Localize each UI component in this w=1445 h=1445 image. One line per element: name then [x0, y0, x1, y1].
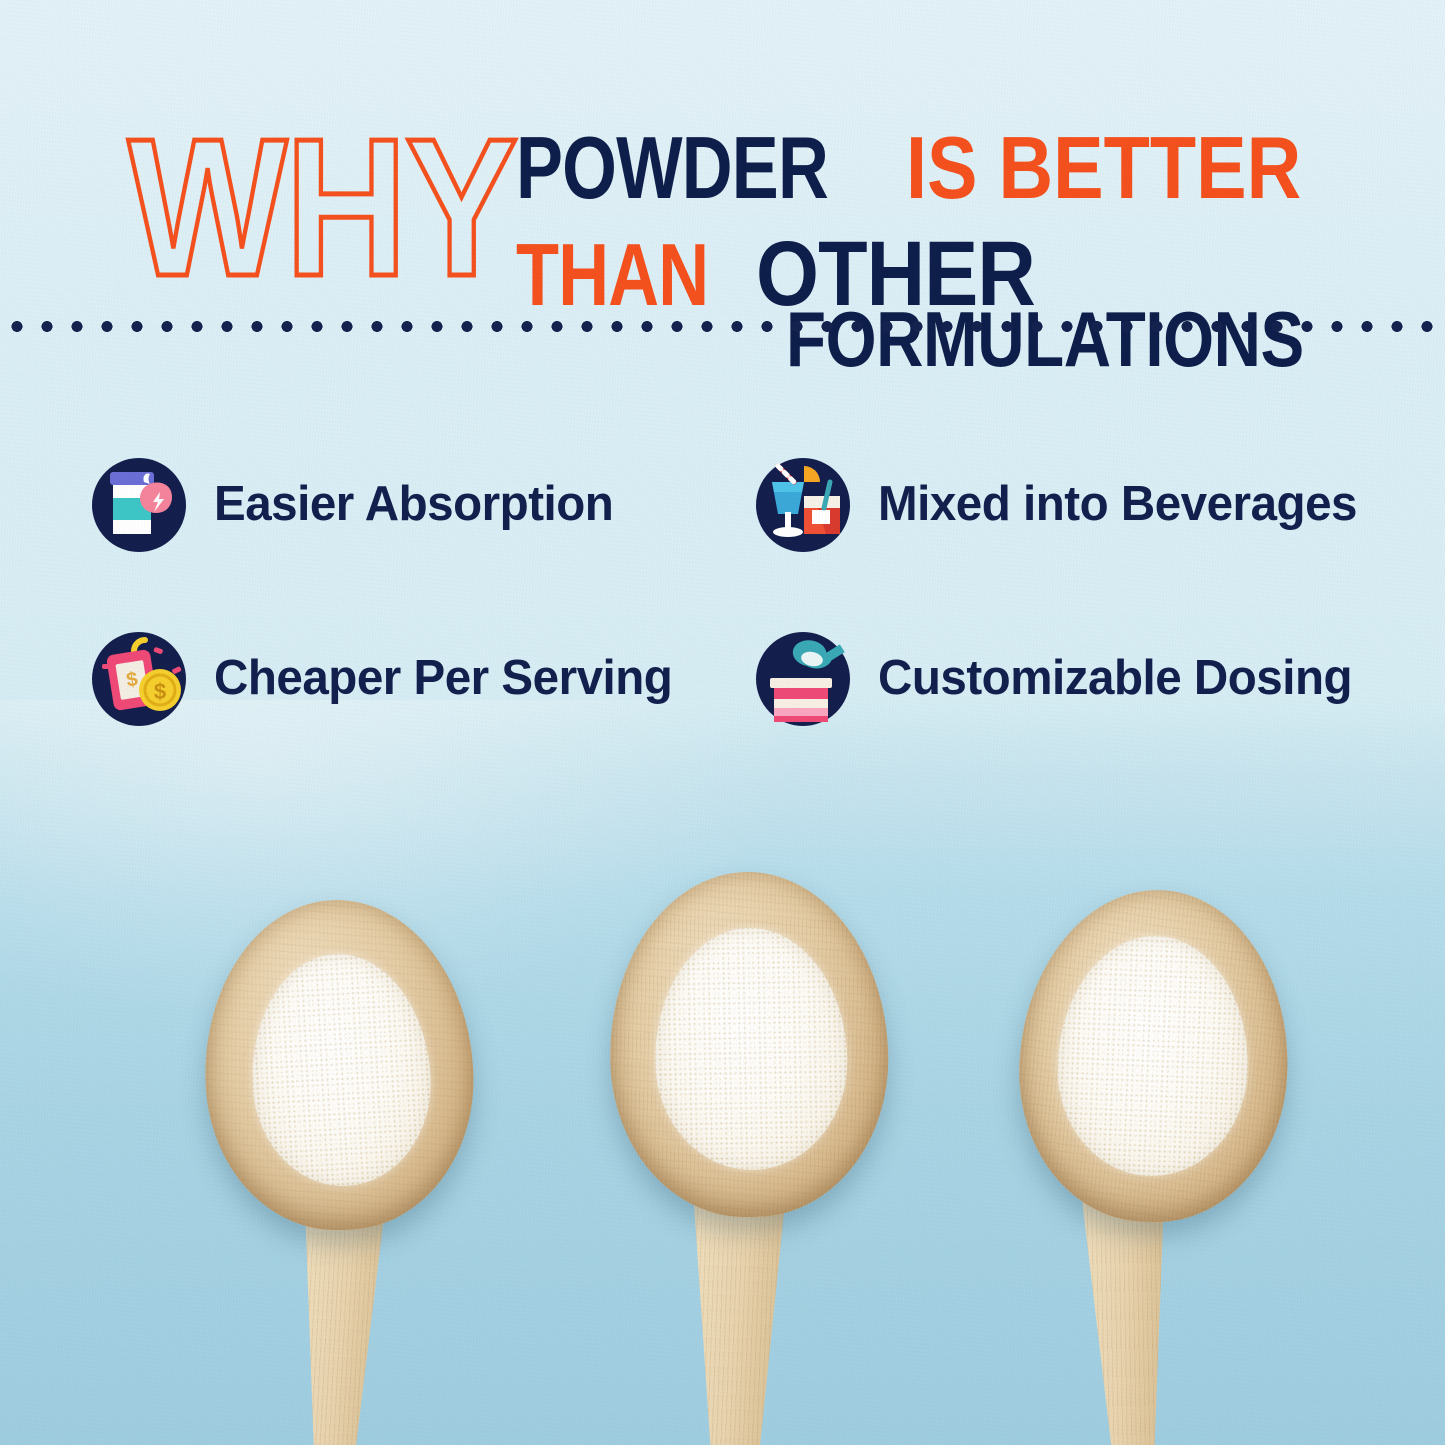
feature-label: Customizable Dosing [878, 651, 1352, 705]
headline-line-1: POWDERIS BETTER [516, 124, 1366, 212]
svg-text:$: $ [154, 679, 166, 704]
icon-wrap [752, 626, 856, 730]
feature-item-easier-absorption[interactable]: Easier Absorption [88, 452, 626, 556]
headline-block: WHY POWDERIS BETTER THANOTHER FORMULATIO… [0, 52, 1445, 322]
feature-item-customizable-dosing[interactable]: Customizable Dosing [752, 626, 1367, 730]
icon-wrap: $ $ [88, 626, 192, 730]
cocktail-drinks-icon [752, 452, 856, 556]
feature-item-mixed-into-beverages[interactable]: Mixed into Beverages [752, 452, 1372, 556]
feature-label: Cheaper Per Serving [214, 651, 672, 705]
headline-word-formulations: FORMULATIONS [786, 300, 1304, 378]
spoons-photo-background [0, 700, 1445, 1445]
headline-word-is-better: IS BETTER [906, 124, 1301, 212]
feature-label: Mixed into Beverages [878, 477, 1357, 531]
icon-wrap [88, 452, 192, 556]
dotted-divider [0, 318, 1445, 334]
headline-word-powder: POWDER [516, 124, 828, 212]
divider-dots [0, 321, 1445, 332]
feature-grid: Easier Absorption [0, 430, 1445, 760]
headline-word-than: THAN [516, 231, 708, 319]
feature-label: Easier Absorption [214, 477, 613, 531]
headline-line-3: FORMULATIONS [786, 300, 1402, 378]
headline-word-why: WHY [128, 110, 516, 306]
supplement-bottle-stomach-icon [88, 452, 192, 556]
scoop-tub-icon [752, 626, 856, 730]
infographic-canvas: WHY POWDERIS BETTER THANOTHER FORMULATIO… [0, 0, 1445, 1445]
feature-item-cheaper-per-serving[interactable]: $ $ Cheaper Per Serving [88, 626, 687, 730]
price-tag-coin-icon: $ $ [88, 626, 192, 730]
icon-wrap [752, 452, 856, 556]
